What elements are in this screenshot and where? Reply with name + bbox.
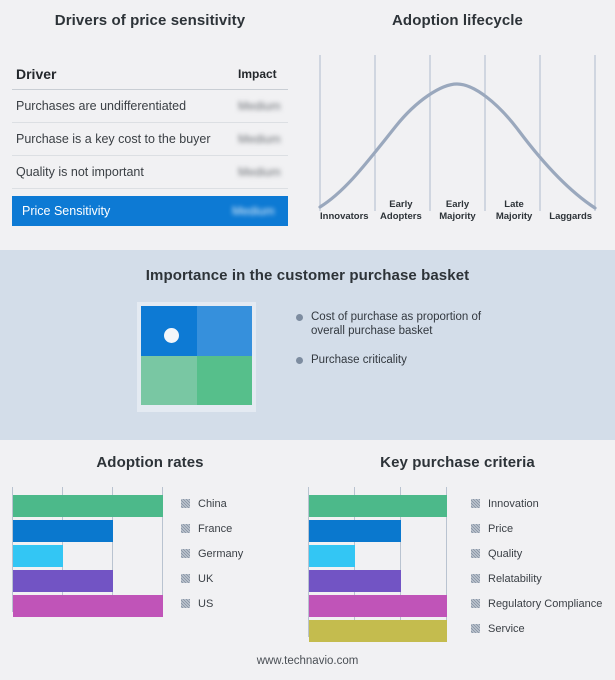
table-row[interactable]: Purchase is a key cost to the buyer Medi… xyxy=(12,123,288,156)
legend-item-service[interactable]: Service xyxy=(471,616,602,641)
legend-label: Service xyxy=(488,623,525,635)
bar-china[interactable] xyxy=(13,495,163,517)
legend-swatch-icon xyxy=(181,574,190,583)
legend-item: Cost of purchase as proportion of overal… xyxy=(296,310,511,338)
legend-item-relatability[interactable]: Relatability xyxy=(471,566,602,591)
impact-value: Medium xyxy=(238,99,284,113)
key-purchase-criteria-panel: Key purchase criteria Innovation xyxy=(300,440,615,655)
bar-germany[interactable] xyxy=(13,545,63,567)
legend-swatch-icon xyxy=(471,574,480,583)
legend-swatch-icon xyxy=(471,549,480,558)
bar-quality[interactable] xyxy=(309,545,355,567)
driver-name: Purchase is a key cost to the buyer xyxy=(16,132,211,146)
driver-name: Price Sensitivity xyxy=(22,204,110,218)
legend-item-price[interactable]: Price xyxy=(471,516,602,541)
legend-label: Price xyxy=(488,523,513,535)
quadrant-position-marker xyxy=(164,328,179,343)
key-purchase-criteria-plot xyxy=(308,487,453,637)
bullet-dot-icon xyxy=(296,357,303,364)
legend-label: China xyxy=(198,498,227,510)
legend-label: Regulatory Compliance xyxy=(488,598,602,610)
key-purchase-criteria-legend: Innovation Price Quality Relatability Re… xyxy=(471,487,602,641)
purchase-basket-legend: Cost of purchase as proportion of overal… xyxy=(296,302,511,412)
quadrant-cell-bottom-right[interactable] xyxy=(197,356,253,406)
legend-label: France xyxy=(198,523,232,535)
lifecycle-stage-late-majority: Late Majority xyxy=(486,184,543,226)
legend-item-us[interactable]: US xyxy=(181,591,243,616)
lifecycle-stage-innovators: Innovators xyxy=(316,184,373,226)
driver-name: Quality is not important xyxy=(16,165,144,179)
impact-value: Medium xyxy=(238,132,284,146)
purchase-basket-body: Cost of purchase as proportion of overal… xyxy=(0,302,615,412)
legend-item-innovation[interactable]: Innovation xyxy=(471,491,602,516)
legend-item-quality[interactable]: Quality xyxy=(471,541,602,566)
table-row[interactable]: Purchases are undifferentiated Medium xyxy=(12,90,288,123)
key-purchase-criteria-chart: Innovation Price Quality Relatability Re… xyxy=(300,487,615,641)
bar-france[interactable] xyxy=(13,520,113,542)
drivers-table: Driver Impact Purchases are undifferenti… xyxy=(12,59,288,226)
lifecycle-stage-early-adopters: Early Adopters xyxy=(373,184,430,226)
lifecycle-stage-labels: Innovators Early Adopters Early Majority… xyxy=(316,184,599,226)
lifecycle-panel: Adoption lifecycle Innovators Early Adop… xyxy=(300,0,615,250)
quadrant-cell-bottom-left[interactable] xyxy=(141,356,197,406)
legend-swatch-icon xyxy=(181,524,190,533)
legend-label: Relatability xyxy=(488,573,542,585)
key-purchase-criteria-title: Key purchase criteria xyxy=(300,454,615,471)
legend-label: Quality xyxy=(488,548,522,560)
legend-item: Purchase criticality xyxy=(296,353,511,367)
purchase-basket-title: Importance in the customer purchase bask… xyxy=(0,267,615,284)
bar-price[interactable] xyxy=(309,520,401,542)
column-header-driver: Driver xyxy=(16,66,56,82)
bar-uk[interactable] xyxy=(13,570,113,592)
bar-regulatory-compliance[interactable] xyxy=(309,595,447,617)
adoption-rates-plot xyxy=(12,487,167,612)
legend-swatch-icon xyxy=(471,599,480,608)
legend-swatch-icon xyxy=(181,549,190,558)
bullet-dot-icon xyxy=(296,314,303,321)
drivers-title: Drivers of price sensitivity xyxy=(0,12,300,29)
lifecycle-stage-laggards: Laggards xyxy=(542,184,599,226)
quadrant-matrix xyxy=(141,306,252,405)
footer-url: www.technavio.com xyxy=(0,655,615,680)
legend-label: US xyxy=(198,598,213,610)
bar-service[interactable] xyxy=(309,620,447,642)
legend-swatch-icon xyxy=(181,499,190,508)
legend-swatch-icon xyxy=(471,524,480,533)
bar-us[interactable] xyxy=(13,595,163,617)
bar-relatability[interactable] xyxy=(309,570,401,592)
legend-item-uk[interactable]: UK xyxy=(181,566,243,591)
bar-series xyxy=(309,495,453,629)
quadrant-frame xyxy=(137,302,256,412)
legend-item-china[interactable]: China xyxy=(181,491,243,516)
table-row[interactable]: Quality is not important Medium xyxy=(12,156,288,189)
legend-label: Germany xyxy=(198,548,243,560)
impact-value: Medium xyxy=(232,204,278,218)
drivers-panel: Drivers of price sensitivity Driver Impa… xyxy=(0,0,300,250)
adoption-rates-chart: China France Germany UK US xyxy=(0,487,300,616)
legend-label: Purchase criticality xyxy=(311,353,407,367)
legend-swatch-icon xyxy=(471,624,480,633)
impact-value: Medium xyxy=(238,165,284,179)
legend-label: Innovation xyxy=(488,498,539,510)
legend-label: Cost of purchase as proportion of overal… xyxy=(311,310,511,338)
lifecycle-chart: Innovators Early Adopters Early Majority… xyxy=(316,51,599,226)
legend-item-france[interactable]: France xyxy=(181,516,243,541)
adoption-rates-panel: Adoption rates China xyxy=(0,440,300,655)
purchase-basket-panel: Importance in the customer purchase bask… xyxy=(0,250,615,440)
bar-innovation[interactable] xyxy=(309,495,447,517)
bar-series xyxy=(13,495,167,604)
adoption-rates-title: Adoption rates xyxy=(0,454,300,471)
adoption-rates-legend: China France Germany UK US xyxy=(181,487,243,616)
lifecycle-title: Adoption lifecycle xyxy=(300,12,615,29)
legend-label: UK xyxy=(198,573,213,585)
table-header-row: Driver Impact xyxy=(12,59,288,90)
quadrant-cell-top-right[interactable] xyxy=(197,306,253,356)
column-header-impact: Impact xyxy=(238,67,284,81)
legend-item-regulatory-compliance[interactable]: Regulatory Compliance xyxy=(471,591,602,616)
table-row-highlighted[interactable]: Price Sensitivity Medium xyxy=(12,196,288,226)
legend-swatch-icon xyxy=(471,499,480,508)
lifecycle-stage-early-majority: Early Majority xyxy=(429,184,486,226)
legend-swatch-icon xyxy=(181,599,190,608)
legend-item-germany[interactable]: Germany xyxy=(181,541,243,566)
driver-name: Purchases are undifferentiated xyxy=(16,99,186,113)
